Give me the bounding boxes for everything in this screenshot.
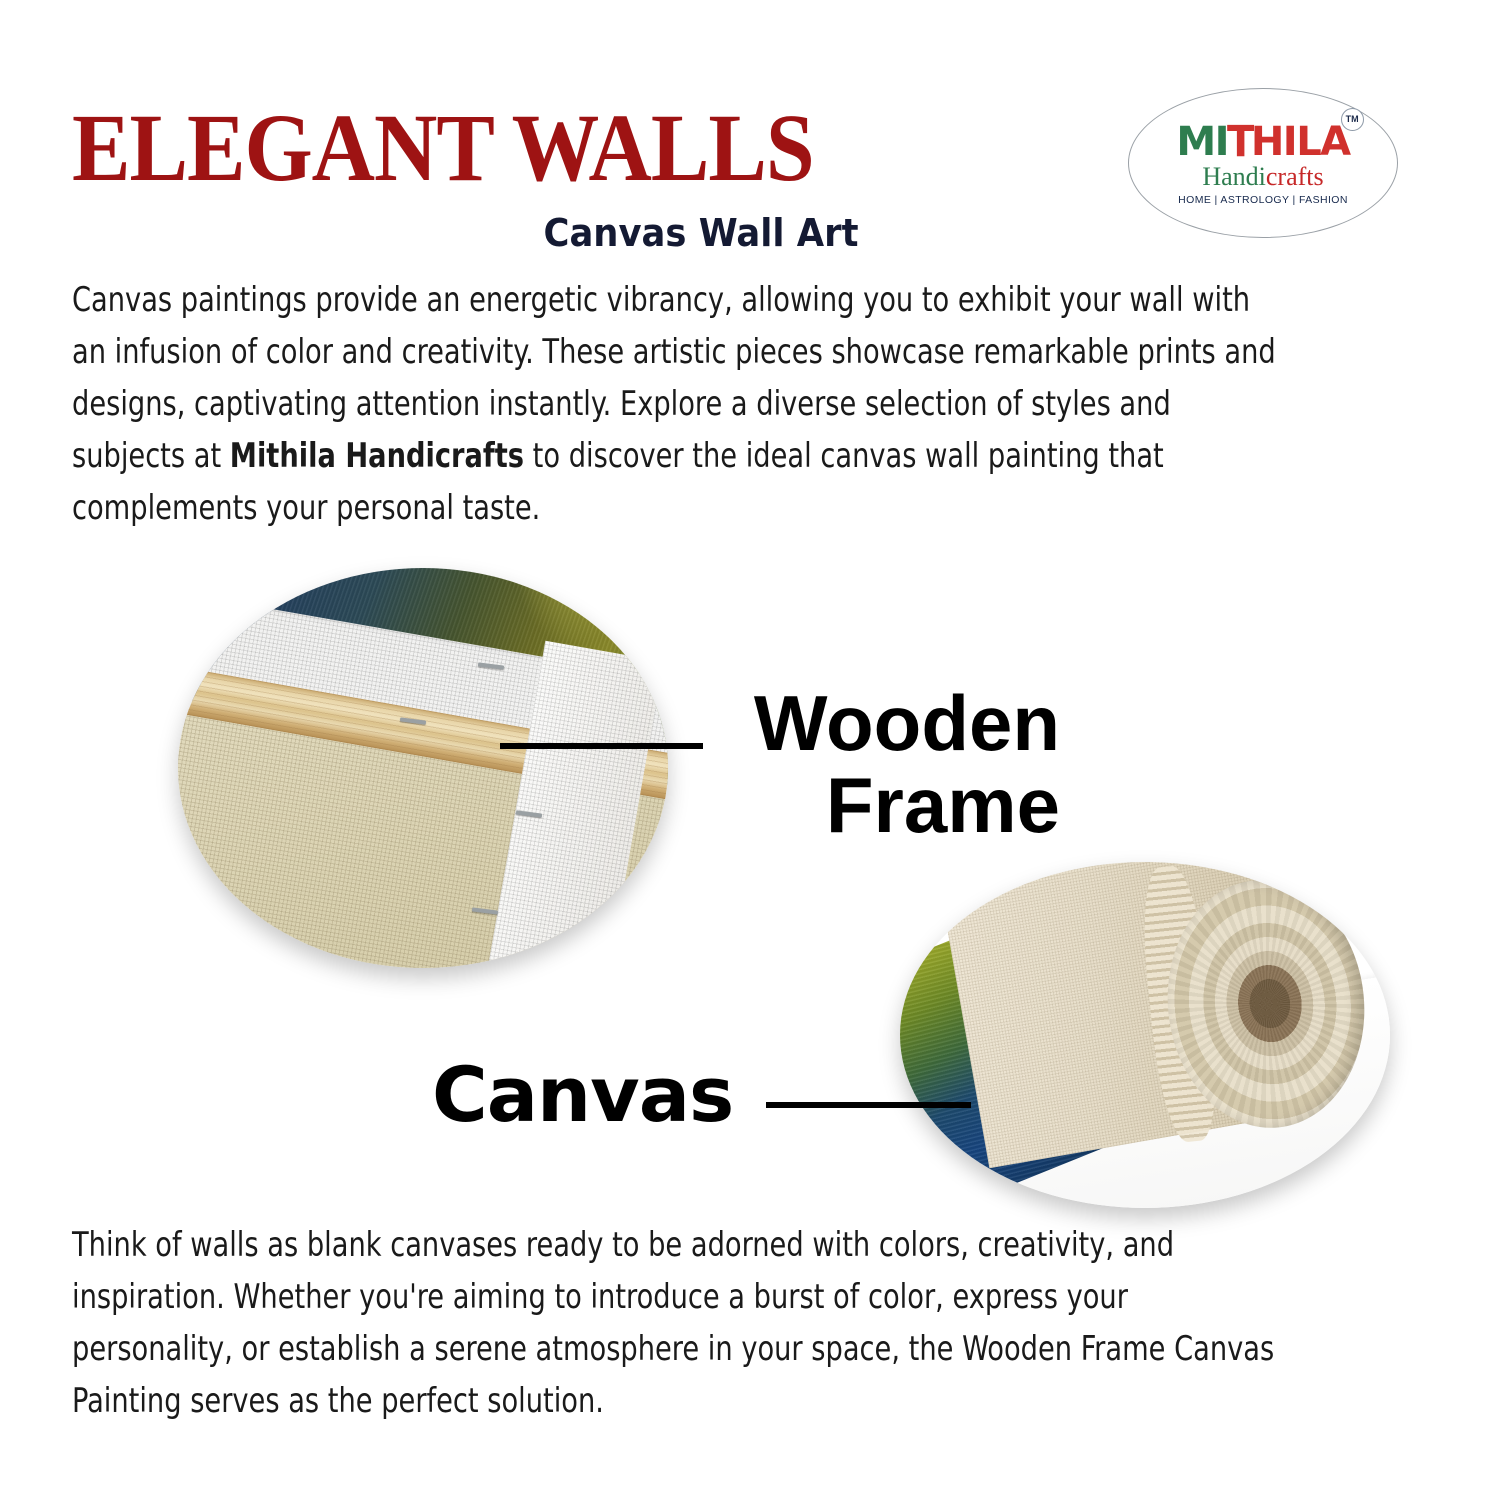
logo-tagline: HOME | ASTROLOGY | FASHION <box>1178 194 1348 206</box>
closing-paragraph: Think of walls as blank canvases ready t… <box>72 1219 1292 1427</box>
wooden-frame-label-line2: Frame <box>700 764 1060 846</box>
logo-wordmark-red: HILA <box>1251 122 1350 162</box>
logo-wordmark-green: MI <box>1176 122 1228 162</box>
logo-subtext: Handicrafts <box>1202 163 1323 190</box>
wooden-frame-leader-line <box>500 743 703 749</box>
wooden-frame-label: Wooden Frame <box>700 682 1060 846</box>
wooden-frame-label-line1: Wooden <box>700 682 1060 764</box>
wooden-frame-photo <box>178 568 668 968</box>
canvas-roll-photo <box>900 862 1390 1208</box>
page-title: ELEGANT WALLS <box>72 104 814 193</box>
poster-root: ELEGANT WALLS MITHILA TM Handicrafts HOM… <box>0 0 1500 1500</box>
canvas-label: Canvas <box>432 1055 733 1135</box>
logo-wordmark: MITHILA TM <box>1176 122 1349 162</box>
logo-subtext-red: crafts <box>1266 162 1324 191</box>
brand-mention: Mithila Handicrafts <box>230 436 524 475</box>
logo-subtext-green: Handi <box>1202 162 1266 191</box>
canvas-leader-line <box>766 1102 971 1108</box>
trademark-icon: TM <box>1341 108 1364 131</box>
page-subtitle: Canvas Wall Art <box>49 211 1353 255</box>
logo-wordmark-t: T <box>1227 121 1253 163</box>
intro-paragraph: Canvas paintings provide an energetic vi… <box>72 274 1292 534</box>
